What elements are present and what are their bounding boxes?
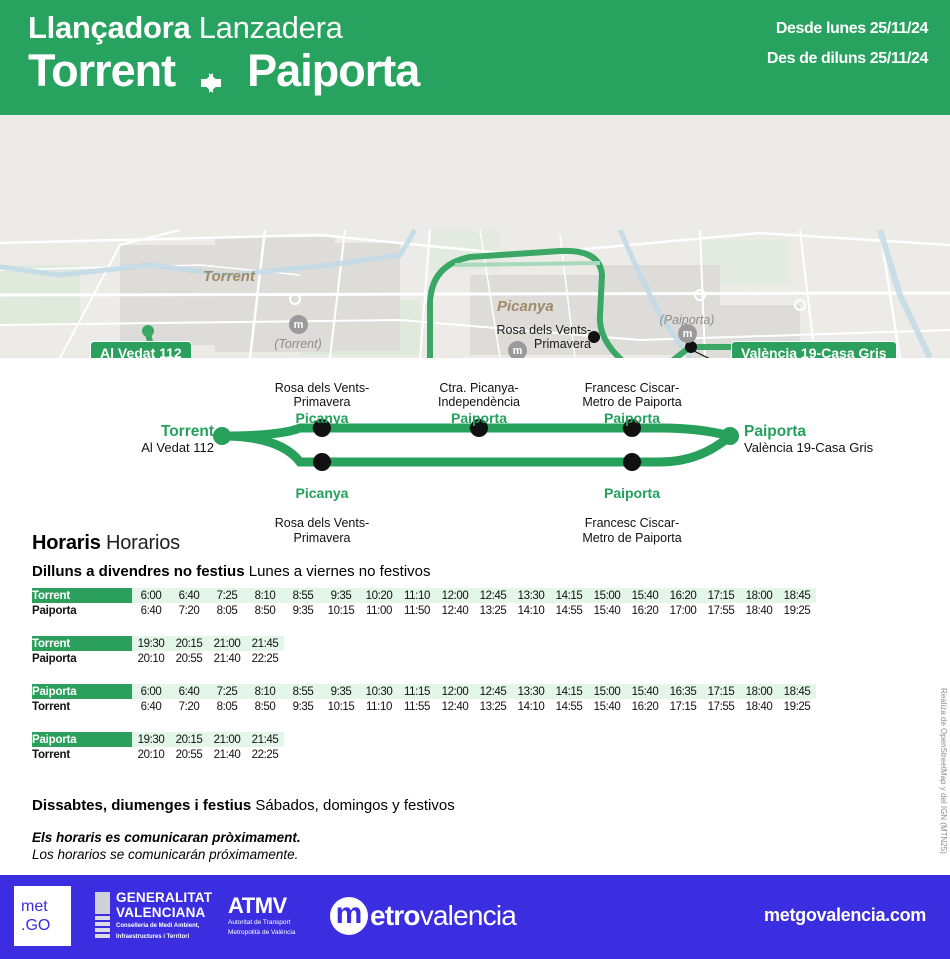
timetable-cell: 7:25 [208,684,246,699]
timetable-cell: 16:20 [626,603,664,618]
diagram-upper-stop-2: Ctra. Picanya- Independència Paiporta [409,366,549,441]
timetable-origin-label: Torrent [32,588,132,603]
gva-wordmark: GENERALITAT VALENCIANA Conselleria de Me… [116,891,212,941]
timetable-row-origin: Paiporta19:3020:1521:0021:45 [32,732,284,747]
timetable-cell: 13:25 [474,603,512,618]
atmv-sub2: Metropolità de València [228,929,295,937]
timetable-cell: 20:10 [132,747,170,762]
weekday-heading-ca: Dilluns a divendres no festius [32,563,245,580]
timetable-cell: 15:00 [588,684,626,699]
timetable-1: Torrent6:006:407:258:108:559:3510:2011:1… [32,588,816,618]
metrovalencia-m-icon: m [330,897,368,935]
weekend-heading: Dissabtes, diumenges i festius Sábados, … [32,796,950,816]
map-town-picanya: Picanya [497,298,554,315]
timetable-origin-label: Torrent [32,636,132,651]
timetable-cell: 9:35 [322,588,360,603]
diagram-terminal-left-town: Torrent [36,424,214,440]
schedule-heading-es: Horarios [106,532,180,554]
timetable-cell: 15:40 [588,699,626,714]
line-diagram: Rosa dels Vents- Primavera Picanya Ctra.… [0,358,950,530]
timetable-cell: 21:45 [246,732,284,747]
map-tag-casa-gris[interactable]: València 19-Casa Gris [731,341,897,358]
timetable-cell: 13:30 [512,684,550,699]
diagram-upper-stop-1: Rosa dels Vents- Primavera Picanya [252,366,392,441]
map-basemap [0,115,950,358]
header-title-ca: Llançadora [28,10,190,45]
timetable-cell: 9:35 [284,699,322,714]
diagram-terminal-right-stop: València 19-Casa Gris [744,440,944,456]
timetable-destination-label: Paiporta [32,651,132,666]
diagram-lower-stop-2-town: Paiporta [562,485,702,502]
diagram-terminal-right: Paiporta València 19-Casa Gris [744,424,944,456]
timetable-row-origin: Torrent6:006:407:258:108:559:3510:2011:1… [32,588,816,603]
timetable-cell: 12:45 [474,588,512,603]
timetable-cell: 20:55 [170,651,208,666]
timetable-cell: 15:40 [588,603,626,618]
timetable-cell: 6:40 [132,603,170,618]
diagram-upper-stop-1-town: Picanya [252,410,392,427]
diagram-terminal-left-stop: Al Vedat 112 [36,440,214,456]
diagram-lower-stop-1-town: Picanya [252,485,392,502]
timetable-cell: 8:55 [284,684,322,699]
weekday-heading: Dilluns a divendres no festius Lunes a v… [32,562,950,582]
gva-line1: GENERALITAT [116,891,212,906]
schedule-heading-ca: Horaris [32,532,101,554]
metrovalencia-wordmark: etrovalencia [370,901,516,931]
schedule-section: Horaris Horarios Dilluns a divendres no … [0,530,950,896]
timetable-cell: 20:15 [170,732,208,747]
timetable-cell: 16:20 [626,699,664,714]
metrovalencia-light: valencia [420,900,516,931]
timetable-cell: 7:20 [170,699,208,714]
diagram-upper-stop-2-name: Ctra. Picanya- Independència [438,381,520,410]
timetable-spacer [0,618,950,636]
timetable-destination-label: Paiporta [32,603,132,618]
timetable-cell: 15:40 [626,684,664,699]
timetable-row-destination: Paiporta20:1020:5521:4022:25 [32,651,284,666]
timetable-cell: 18:45 [778,588,816,603]
timetable-cell: 20:15 [170,636,208,651]
timetable-cell: 8:50 [246,603,284,618]
weekend-note-ca: Els horaris es comunicaran pròximament. [32,830,950,845]
timetable-cell: 18:45 [778,684,816,699]
atmv-sub1: Autoritat de Transport [228,919,295,927]
timetable-cell: 22:25 [246,651,284,666]
timetable-cell: 11:10 [398,588,436,603]
start-date-ca: Des de diluns 25/11/24 [767,44,928,74]
timetable-origin-label: Paiporta [32,684,132,699]
timetable-cell: 18:40 [740,699,778,714]
diagram-terminal-right-town: Paiporta [744,424,944,440]
map-town-torrent: Torrent [203,268,255,285]
timetable-cell: 8:10 [246,684,284,699]
timetable-cell: 12:45 [474,684,512,699]
timetable-cell: 8:05 [208,699,246,714]
timetable-cell: 14:55 [550,603,588,618]
weekend-heading-ca: Dissabtes, diumenges i festius [32,797,251,814]
header-title-es: Lanzadera [199,10,343,45]
route-origin: Torrent [28,44,175,98]
timetable-cell: 17:15 [664,699,702,714]
timetable-cell: 20:10 [132,651,170,666]
weekend-heading-es: Sábados, domingos y festivos [255,797,454,814]
timetable-cell: 13:30 [512,588,550,603]
timetable-cell: 6:00 [132,588,170,603]
diagram-terminal-left: Torrent Al Vedat 112 [36,424,214,456]
timetable-cell: 10:30 [360,684,398,699]
poster-footer: met .GO GENERALITAT VALENCIANA Conseller… [0,875,950,959]
timetable-cell: 21:40 [208,651,246,666]
metro-pin-torrent: m [289,315,308,334]
gva-line2: VALENCIANA [116,906,212,921]
timetable-cell: 19:30 [132,732,170,747]
timetable-cell: 14:10 [512,699,550,714]
timetable-cell: 16:20 [664,588,702,603]
timetable-cell: 21:40 [208,747,246,762]
gva-sub2: Infraestructures i Territori [116,934,212,942]
timetable-cell: 18:00 [740,588,778,603]
timetable-cell: 11:55 [398,699,436,714]
timetable-cell: 10:20 [360,588,398,603]
metgo-logo-line1: met [21,897,71,916]
start-date-es: Desde lunes 25/11/24 [767,14,928,44]
timetable-row-destination: Torrent20:1020:5521:4022:25 [32,747,284,762]
timetable-cell: 20:55 [170,747,208,762]
timetable-cell: 12:40 [436,699,474,714]
timetable-cell: 6:00 [132,684,170,699]
timetable-origin-label: Paiporta [32,732,132,747]
atmv-logo[interactable]: ATMV Autoritat de Transport Metropolità … [228,894,295,937]
timetable-cell: 11:00 [360,603,398,618]
timetable-cell: 18:00 [740,684,778,699]
timetable-cell: 8:50 [246,699,284,714]
timetable-cell: 14:15 [550,588,588,603]
timetable-cell: 8:55 [284,588,322,603]
timetable-2: Torrent19:3020:1521:0021:45Paiporta20:10… [32,636,284,666]
timetable-destination-label: Torrent [32,699,132,714]
metrovalencia-bold: etro [370,900,420,931]
timetable-cell: 12:40 [436,603,474,618]
timetable-cell: 19:30 [132,636,170,651]
route-destination: Paiporta [247,44,419,98]
generalitat-valenciana-logo[interactable]: GENERALITAT VALENCIANA Conselleria de Me… [94,891,212,941]
weekday-heading-es: Lunes a viernes no festivos [249,563,431,580]
schedule-tables: Torrent6:006:407:258:108:559:3510:2011:1… [0,588,950,780]
timetable-cell: 19:25 [778,603,816,618]
schedule-heading: Horaris Horarios [32,530,950,556]
timetable-row-origin: Paiporta6:006:407:258:108:559:3510:3011:… [32,684,816,699]
timetable-cell: 21:45 [246,636,284,651]
diagram-upper-stop-3-name: Francesc Ciscar- Metro de Paiporta [582,381,681,410]
timetable-cell: 10:15 [322,699,360,714]
timetable-cell: 6:40 [170,588,208,603]
timetable-cell: 12:00 [436,588,474,603]
timetable-cell: 12:00 [436,684,474,699]
timetable-spacer [0,714,950,732]
timetable-cell: 7:25 [208,588,246,603]
timetable-cell: 17:15 [702,588,740,603]
timetable-spacer [0,666,950,684]
timetable-cell: 17:55 [702,603,740,618]
timetable-cell: 16:35 [664,684,702,699]
gva-shield-icon [94,891,111,939]
timetable-cell: 14:15 [550,684,588,699]
timetable-cell: 15:40 [626,588,664,603]
atmv-wordmark: ATMV [228,894,295,917]
timetable-cell: 9:35 [322,684,360,699]
timetable-cell: 18:40 [740,603,778,618]
timetable-cell: 11:50 [398,603,436,618]
route-map[interactable]: Torrent Picanya Paiporta m (Torrent) m (… [0,115,950,358]
diagram-upper-stop-3-town: Paiporta [562,410,702,427]
timetable-cell: 6:40 [170,684,208,699]
timetable-cell: 11:10 [360,699,398,714]
diagram-upper-stop-2-town: Paiporta [409,410,549,427]
timetable-cell: 21:00 [208,732,246,747]
timetable-3: Paiporta6:006:407:258:108:559:3510:3011:… [32,684,816,714]
timetable-cell: 17:55 [702,699,740,714]
poster: Llançadora Lanzadera Torrent Paiporta De… [0,0,950,959]
header-start-date: Desde lunes 25/11/24 Des de diluns 25/11… [767,14,928,74]
diagram-upper-stop-1-name: Rosa dels Vents- Primavera [275,381,370,410]
timetable-cell: 10:15 [322,603,360,618]
timetable-cell: 17:15 [702,684,740,699]
timetable-cell: 6:40 [132,699,170,714]
timetable-cell: 17:00 [664,603,702,618]
timetable-spacer [0,762,950,780]
gva-sub1: Conselleria de Medi Ambient, [116,923,212,931]
poster-header: Llançadora Lanzadera Torrent Paiporta De… [0,0,950,115]
timetable-cell: 21:00 [208,636,246,651]
timetable-cell: 7:20 [170,603,208,618]
metrovalencia-logo[interactable]: m etrovalencia [330,897,516,935]
timetable-cell: 15:00 [588,588,626,603]
map-metro-paiporta: (Paiporta) [637,313,737,327]
timetable-cell: 14:10 [512,603,550,618]
metgo-logo-line2: .GO [21,916,71,935]
map-metro-torrent: (Torrent) [248,337,348,351]
timetable-cell: 19:25 [778,699,816,714]
timetable-cell: 8:05 [208,603,246,618]
map-tag-al-vedat[interactable]: Al Vedat 112 [90,341,192,358]
timetable-row-destination: Paiporta6:407:208:058:509:3510:1511:0011… [32,603,816,618]
website-url[interactable]: metgovalencia.com [764,905,926,926]
timetable-row-origin: Torrent19:3020:1521:0021:45 [32,636,284,651]
metgo-logo[interactable]: met .GO [14,886,71,946]
timetable-4: Paiporta19:3020:1521:0021:45Torrent20:10… [32,732,284,762]
diagram-upper-stop-3: Francesc Ciscar- Metro de Paiporta Paipo… [562,366,702,441]
timetable-cell: 11:15 [398,684,436,699]
timetable-destination-label: Torrent [32,747,132,762]
double-arrow-icon [189,56,233,86]
map-stop-rosa-dels-vents: Rosa dels Vents- Primavera [476,323,591,351]
timetable-cell: 8:10 [246,588,284,603]
timetable-cell: 14:55 [550,699,588,714]
timetable-cell: 22:25 [246,747,284,762]
weekend-note-es: Los horarios se comunicarán próximamente… [32,847,950,862]
timetable-cell: 13:25 [474,699,512,714]
timetable-cell: 9:35 [284,603,322,618]
timetable-row-destination: Torrent6:407:208:058:509:3510:1511:1011:… [32,699,816,714]
